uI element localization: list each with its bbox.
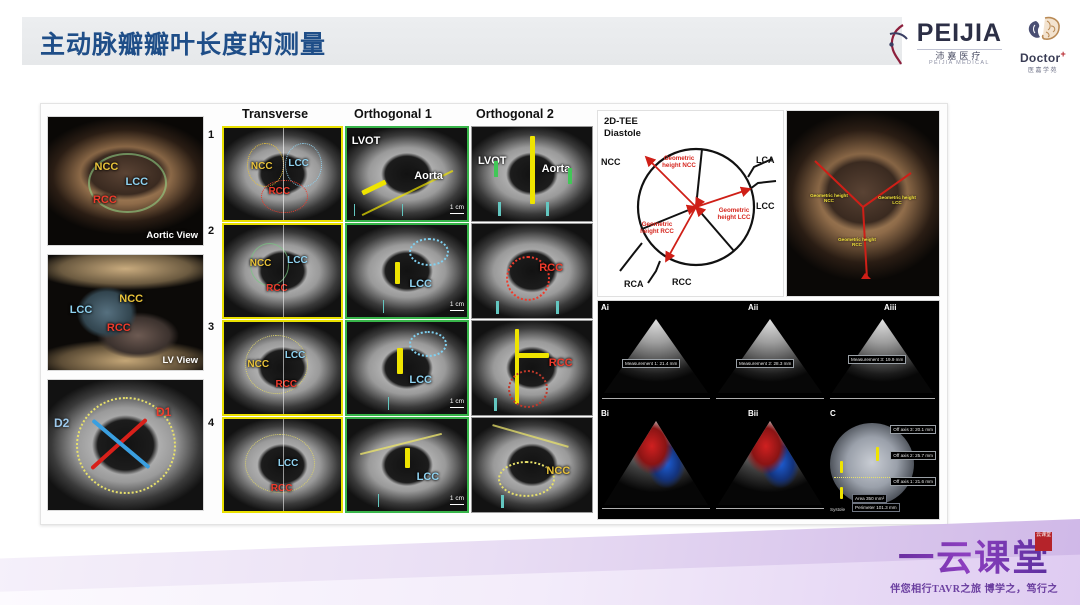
aortic-view-panel: NCC LCC RCC Aortic View: [47, 116, 204, 246]
marker: [494, 398, 497, 411]
subpanel-aiii: Measurement 3: 19.9 mm: [828, 315, 937, 407]
echo-fan: [718, 319, 822, 393]
phase-label: Systole: [830, 507, 845, 512]
cell-r3c2: LCC 1 cm: [345, 320, 469, 416]
label-rcc: RCC: [549, 357, 573, 369]
label-rcc: RCC: [268, 186, 290, 197]
peijia-wordmark: PEIJIA 沛嘉医疗 PEIJIA MEDICAL: [917, 21, 1002, 67]
column-header-orthogonal2: Orthogonal 2: [476, 107, 554, 121]
ecg-mark: [378, 494, 379, 507]
midline: [283, 322, 284, 414]
scale-bar: 1 cm: [450, 398, 464, 405]
tee-annotation-rcc: Geometric height RCC: [634, 221, 680, 236]
label-lcc: LCC: [409, 278, 432, 290]
marker: [501, 495, 504, 508]
cell-r1c1: NCC LCC RCC: [222, 126, 343, 222]
label-ncc: NCC: [119, 293, 143, 305]
label-lcc: LCC: [70, 304, 93, 316]
row-number-2: 2: [208, 225, 214, 237]
ecg-trace: [716, 508, 824, 509]
left-panel-column: NCC LCC RCC Aortic View LCC NCC RCC LV V…: [47, 116, 202, 519]
cell-r2c1: NCC LCC RCC: [222, 223, 343, 319]
tee-annotation-ncc: Geometric height NCC: [656, 155, 702, 170]
label-ncc: NCC: [250, 258, 272, 269]
label-aorta: Aorta: [414, 170, 443, 182]
color-doppler-fan: [718, 421, 822, 505]
label-rcc: RCC: [107, 322, 131, 334]
brand-name: 一云课堂: [898, 538, 1050, 578]
tee-diagram-panel: 2D-TEE Diastole: [597, 110, 784, 297]
subpanel-aii: Measurement 2: 28.3 mm: [714, 315, 826, 407]
ecg-trace: [716, 398, 824, 399]
label-lcc: LCC: [285, 350, 306, 361]
cell-grid: NCC LCC RCC LVOT Aorta 1 cm: [222, 126, 593, 516]
cell-r2c2: LCC 1 cm: [345, 223, 469, 319]
measurement-1: Measurement 1: 21.4 mm: [622, 359, 680, 368]
color-doppler-fan: [604, 421, 708, 505]
area-label: Area 350 mm²: [852, 494, 887, 503]
horizontal-measure-bar: [515, 353, 549, 358]
annulus-measurement-panel: D2 D1: [47, 379, 204, 511]
doctor-plus-logo: Doctor+ 医嘉学苑: [1020, 14, 1066, 74]
cusp-dotted-trace: [409, 238, 449, 266]
lv-view-caption: LV View: [162, 355, 198, 366]
page-title: 主动脉瓣瓣叶长度的测量: [40, 25, 326, 61]
panel-label-aii: Aii: [748, 303, 758, 312]
tee-label-rcc: RCC: [672, 277, 692, 287]
panel-label-c: C: [830, 409, 836, 418]
panel-label-bii: Bii: [748, 409, 758, 418]
marker: [496, 301, 499, 314]
label-lvot: LVOT: [478, 155, 507, 167]
rcc-dotted-trace: [508, 370, 548, 408]
cell-r3c1: NCC LCC RCC: [222, 320, 343, 416]
row-number-4: 4: [208, 417, 214, 429]
caliper-mark: [840, 461, 843, 473]
label-aorta: Aorta: [542, 163, 571, 175]
midline: [283, 225, 284, 317]
scale-bar: 1 cm: [450, 495, 464, 502]
row-number-1: 1: [208, 129, 214, 141]
ecg-trace: [830, 398, 935, 399]
label-rcc: RCC: [539, 262, 563, 274]
logo-group: PEIJIA 沛嘉医疗 PEIJIA MEDICAL Doctor+ 医嘉学苑: [884, 14, 1066, 74]
label-d2: D2: [54, 416, 69, 430]
subpanel-ai: Measurement 1: 21.4 mm: [600, 315, 712, 407]
marker: [556, 301, 559, 314]
composite-panel: Measurement 1: 21.4 mm Ai Measurement 2:…: [597, 300, 940, 520]
measurement-2: Measurement 2: 28.3 mm: [736, 359, 794, 368]
cell-r4c1: LCC RCC: [222, 417, 343, 513]
midline: [283, 419, 284, 511]
label-d1: D1: [156, 405, 171, 419]
label-rcc: RCC: [93, 194, 117, 206]
green-arrow-icon: [494, 161, 498, 177]
peijia-mark-icon: [884, 22, 914, 66]
tee-annotation-lcc: Geometric height LCC: [710, 207, 758, 222]
caliper-mark: [876, 447, 879, 461]
tee-label-lca: LCA: [756, 155, 775, 165]
label-lcc: LCC: [126, 176, 149, 188]
gh-tag-lcc: Geometric height LCC: [875, 195, 919, 206]
measurement-grid: Transverse Orthogonal 1 Orthogonal 2 1 2…: [208, 107, 593, 519]
gh-3d-panel: Geometric height NCC Geometric height LC…: [786, 110, 940, 297]
peijia-english: PEIJIA MEDICAL: [917, 61, 1002, 67]
caliper-mark: [840, 487, 843, 499]
aortic-view-caption: Aortic View: [146, 230, 198, 241]
off-axis-1: Off axis 1: 21.6 mm: [890, 477, 936, 486]
footer-brand: 一云课堂 云课堂 伴您相行TAVR之旅 博学之，笃行之: [890, 540, 1058, 595]
peijia-name: PEIJIA: [917, 21, 1002, 46]
measurement-3: Measurement 3: 19.9 mm: [848, 355, 906, 364]
figure-container: NCC LCC RCC Aortic View LCC NCC RCC LV V…: [40, 103, 948, 525]
brand-tagline: 伴您相行TAVR之旅 博学之，笃行之: [890, 580, 1058, 595]
marker: [498, 202, 501, 216]
midline: [283, 128, 284, 220]
panel-label-ai: Ai: [601, 303, 609, 312]
panel-label-aiii: Aiii: [884, 303, 896, 312]
brain-icon: [1023, 31, 1063, 48]
tee-label-ncc: NCC: [601, 157, 621, 167]
off-axis-3: Off axis 3: 20.1 mm: [890, 425, 936, 434]
slide-root: 主动脉瓣瓣叶长度的测量 PEIJIA 沛嘉医疗 PEIJIA MEDICAL: [0, 0, 1080, 605]
cell-r4c3: NCC: [471, 417, 593, 513]
label-rcc: RCC: [266, 283, 288, 294]
ecg-mark: [354, 204, 355, 216]
cell-r2c3: RCC: [471, 223, 593, 319]
perimeter-label: Perimeter 101.3 mm: [852, 503, 900, 512]
gh-tag-rcc: Geometric height RCC: [835, 237, 879, 248]
tee-label-rca: RCA: [624, 279, 644, 289]
column-header-transverse: Transverse: [242, 107, 308, 121]
ecg-mark: [383, 300, 384, 313]
label-lcc: LCC: [287, 255, 308, 266]
off-axis-2: Off axis 2: 25.7 mm: [890, 451, 936, 460]
column-header-orthogonal1: Orthogonal 1: [354, 107, 432, 121]
measure-bar: [397, 348, 403, 374]
green-arrow-icon: [568, 168, 572, 184]
ecg-trace: [602, 398, 710, 399]
label-rcc: RCC: [275, 379, 297, 390]
label-lvot: LVOT: [352, 135, 381, 147]
subpanel-bi: [600, 419, 712, 515]
lv-view-panel: LCC NCC RCC LV View: [47, 254, 204, 371]
row-number-3: 3: [208, 321, 214, 333]
gh-tag-ncc: Geometric height NCC: [807, 193, 851, 204]
label-lcc: LCC: [409, 374, 432, 386]
label-ncc: NCC: [251, 161, 273, 172]
label-lcc: LCC: [288, 158, 309, 169]
ecg-mark: [388, 397, 389, 410]
label-lcc: LCC: [417, 471, 440, 483]
scale-bar: 1 cm: [450, 301, 464, 308]
ecg-trace: [602, 508, 710, 509]
panel-label-bi: Bi: [601, 409, 609, 418]
marker: [546, 202, 549, 216]
subpanel-bii: [714, 419, 826, 515]
scale-bar: 1 cm: [450, 204, 464, 211]
label-ncc: NCC: [546, 465, 570, 477]
subpanel-c: Off axis 3: 20.1 mm Off axis 2: 25.7 mm …: [828, 419, 937, 515]
echo-fan: [604, 319, 708, 393]
ecg-mark: [402, 204, 403, 216]
cell-r1c3: LVOT Aorta: [471, 126, 593, 222]
label-ncc: NCC: [95, 161, 119, 173]
label-ncc: NCC: [247, 359, 269, 370]
cell-r3c3: RCC: [471, 320, 593, 416]
measure-bar: [395, 262, 400, 284]
cell-r1c2: LVOT Aorta 1 cm: [345, 126, 469, 222]
cell-r4c2: LCC 1 cm: [345, 417, 469, 513]
doctor-name: Doctor+: [1020, 49, 1066, 65]
peijia-logo: PEIJIA 沛嘉医疗 PEIJIA MEDICAL: [884, 21, 1002, 67]
measure-bar: [530, 136, 535, 204]
label-lcc: LCC: [278, 458, 299, 469]
doctor-chinese: 医嘉学苑: [1020, 65, 1066, 74]
measure-bar: [405, 448, 410, 468]
doctor-plus: +: [1060, 49, 1066, 59]
tee-label-lcc: LCC: [756, 201, 775, 211]
doctor-text: Doctor: [1020, 51, 1060, 65]
brand-seal: 云课堂: [1035, 532, 1052, 551]
